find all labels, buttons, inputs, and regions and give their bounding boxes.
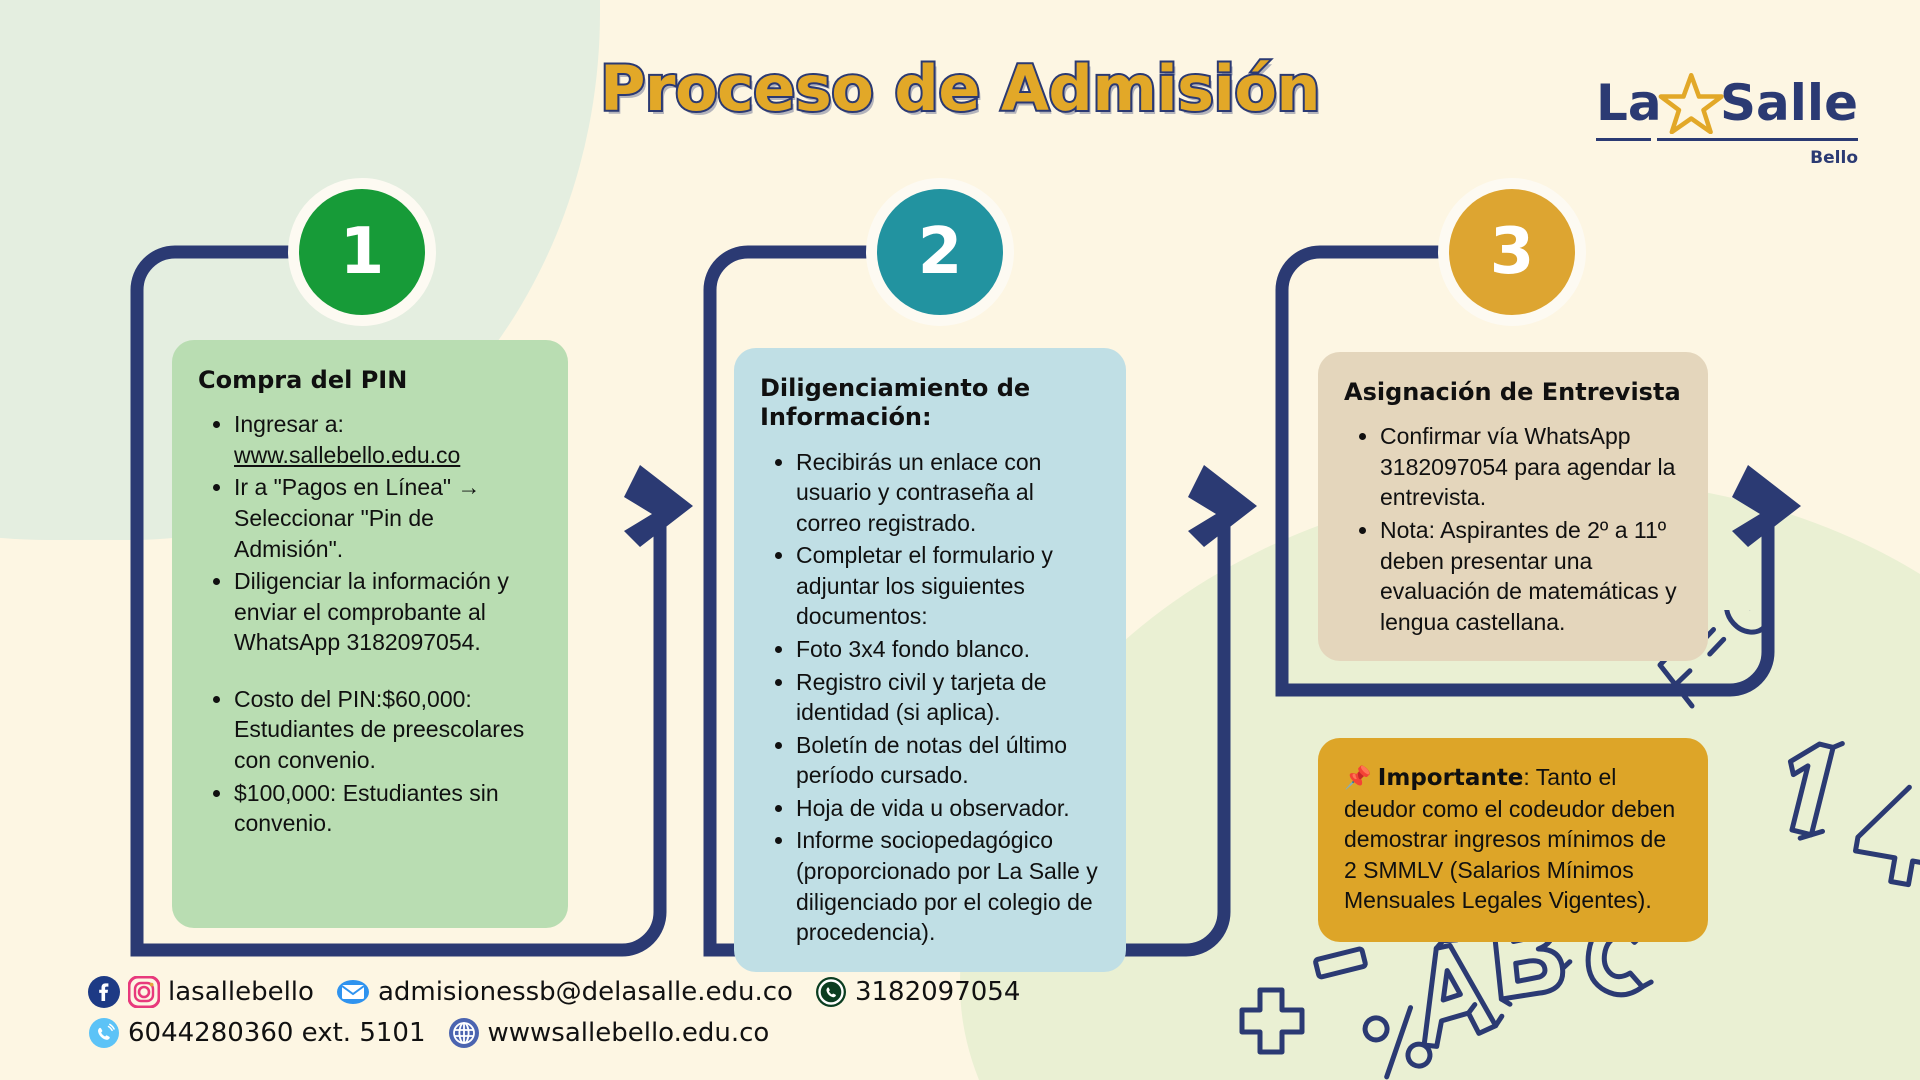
school-logo: La Salle Bello <box>1596 72 1858 168</box>
globe-icon[interactable] <box>448 1017 480 1049</box>
list-item: Informe sociopedagógico (proporcionado p… <box>796 825 1100 947</box>
logo-wordmark: La Salle <box>1596 72 1858 134</box>
important-note: 📌 Importante: Tanto el deudor como el co… <box>1318 738 1708 942</box>
footer-contact: lasallebello admisionessb@delasalle.edu.… <box>88 976 1020 1058</box>
list-item: Foto 3x4 fondo blanco. <box>796 634 1100 665</box>
step-card-2-title: Diligenciamiento de Información: <box>760 374 1100 433</box>
logo-word-la: La <box>1596 78 1662 128</box>
footer-row-phone: 6044280360 ext. 5101 wwwsallebello.edu.c… <box>88 1017 1020 1049</box>
logo-divider <box>1596 138 1858 141</box>
footer-row-social: lasallebello admisionessb@delasalle.edu.… <box>88 976 1020 1008</box>
email-icon[interactable] <box>336 977 370 1007</box>
step-badge-3: 3 <box>1438 178 1586 326</box>
list-item: Ir a "Pagos en Línea" → Seleccionar "Pin… <box>234 472 542 564</box>
important-label: Importante <box>1378 765 1524 791</box>
list-item: Recibirás un enlace con usuario y contra… <box>796 447 1100 539</box>
logo-word-salle: Salle <box>1720 78 1858 128</box>
list-item: Hoja de vida u observador. <box>796 793 1100 824</box>
list-item: Confirmar vía WhatsApp 3182097054 para a… <box>1380 421 1682 513</box>
email-address: admisionessb@delasalle.edu.co <box>378 977 793 1007</box>
list-item: Ingresar a: www.sallebello.edu.co <box>234 409 542 470</box>
social-handle: lasallebello <box>168 977 314 1007</box>
step-card-3-title: Asignación de Entrevista <box>1344 378 1682 407</box>
phone-number: 6044280360 ext. 5101 <box>128 1018 426 1048</box>
star-icon <box>1654 72 1728 134</box>
step-badge-1: 1 <box>288 178 436 326</box>
list-item: $100,000: Estudiantes sin convenio. <box>234 778 542 839</box>
list-item: Registro civil y tarjeta de identidad (s… <box>796 667 1100 728</box>
list-item: Boletín de notas del último período curs… <box>796 730 1100 791</box>
logo-rule-long <box>1657 138 1858 141</box>
facebook-icon[interactable] <box>88 976 120 1008</box>
step-card-3-list: Confirmar vía WhatsApp 3182097054 para a… <box>1344 421 1682 637</box>
logo-rule-short <box>1596 138 1651 141</box>
list-item: Costo del PIN:$60,000: Estudiantes de pr… <box>234 684 542 776</box>
step-card-1: Compra del PIN Ingresar a: www.sallebell… <box>172 340 568 928</box>
website-url: wwwsallebello.edu.co <box>488 1018 770 1048</box>
list-item: Completar el formulario y adjuntar los s… <box>796 540 1100 632</box>
list-item: Diligenciar la información y enviar el c… <box>234 566 542 658</box>
website-link[interactable]: www.sallebello.edu.co <box>234 442 460 468</box>
instagram-icon[interactable] <box>128 976 160 1008</box>
logo-campus-label: Bello <box>1596 148 1858 168</box>
pushpin-icon: 📌 <box>1344 765 1371 790</box>
step-card-1-title: Compra del PIN <box>198 366 542 395</box>
step-card-1-list: Ingresar a: www.sallebello.edu.co Ir a "… <box>198 409 542 839</box>
list-item: Nota: Aspirantes de 2º a 11º deben prese… <box>1380 515 1682 637</box>
whatsapp-icon[interactable] <box>815 976 847 1008</box>
step-badge-2: 2 <box>866 178 1014 326</box>
step-card-2-list: Recibirás un enlace con usuario y contra… <box>760 447 1100 948</box>
whatsapp-number: 3182097054 <box>855 977 1020 1007</box>
step-card-3: Asignación de Entrevista Confirmar vía W… <box>1318 352 1708 661</box>
phone-icon[interactable] <box>88 1017 120 1049</box>
infographic-canvas: Proceso de Admisión La Salle Bello 1 2 3… <box>0 0 1920 1080</box>
step-card-2: Diligenciamiento de Información: Recibir… <box>734 348 1126 972</box>
